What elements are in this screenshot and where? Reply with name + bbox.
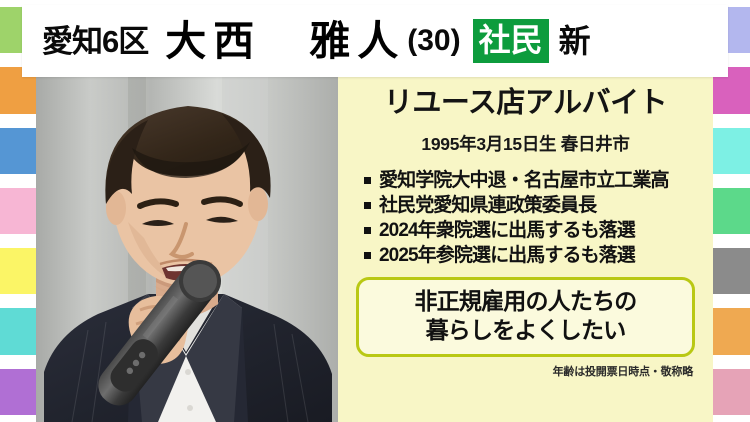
stripe-left-4 bbox=[0, 181, 38, 241]
candidate-quote-box: 非正規雇用の人たちの 暮らしをよくしたい bbox=[356, 277, 695, 356]
party-badge: 社民 bbox=[473, 19, 549, 63]
stripe-right-7 bbox=[712, 362, 750, 422]
quote-line-2: 暮らしをよくしたい bbox=[365, 316, 686, 345]
headline-bar: 愛知6区 大西 雅人 (30) 社民 新 bbox=[22, 5, 728, 77]
broadcast-candidate-profile-graphic: リユース店アルバイト 1995年3月15日生 春日井市 愛知学院大中退・名古屋市… bbox=[0, 0, 750, 422]
career-bullet-list: 愛知学院大中退・名古屋市立工業高 社民党愛知県連政策委員長 2024年衆院選に出… bbox=[352, 168, 699, 268]
stripe-right-6 bbox=[712, 301, 750, 361]
birthdate-hometown: 1995年3月15日生 春日井市 bbox=[352, 131, 699, 156]
job-title: リユース店アルバイト bbox=[352, 88, 699, 120]
footnote: 年齢は投開票日時点・敬称略 bbox=[352, 363, 693, 379]
candidacy-status-label: 新 bbox=[559, 25, 591, 57]
list-item: 2024年衆院選に出馬するも落選 bbox=[362, 218, 699, 243]
district-label: 愛知6区 bbox=[42, 26, 148, 57]
stripe-right-3 bbox=[712, 121, 750, 181]
list-item: 愛知学院大中退・名古屋市立工業高 bbox=[362, 168, 699, 193]
stripe-left-7 bbox=[0, 362, 38, 422]
quote-line-1: 非正規雇用の人たちの bbox=[365, 287, 686, 316]
stripe-right-5 bbox=[712, 241, 750, 301]
candidate-name: 大西 雅人 bbox=[165, 21, 405, 62]
list-item: 2025年参院選に出馬するも落選 bbox=[362, 243, 699, 268]
stripe-left-5 bbox=[0, 241, 38, 301]
candidate-photo bbox=[36, 72, 338, 422]
list-item: 社民党愛知県連政策委員長 bbox=[362, 193, 699, 218]
stripe-left-6 bbox=[0, 301, 38, 361]
stripe-left-3 bbox=[0, 121, 38, 181]
candidate-age: (30) bbox=[407, 26, 460, 56]
stripe-right-4 bbox=[712, 181, 750, 241]
profile-panel: リユース店アルバイト 1995年3月15日生 春日井市 愛知学院大中退・名古屋市… bbox=[338, 72, 713, 422]
